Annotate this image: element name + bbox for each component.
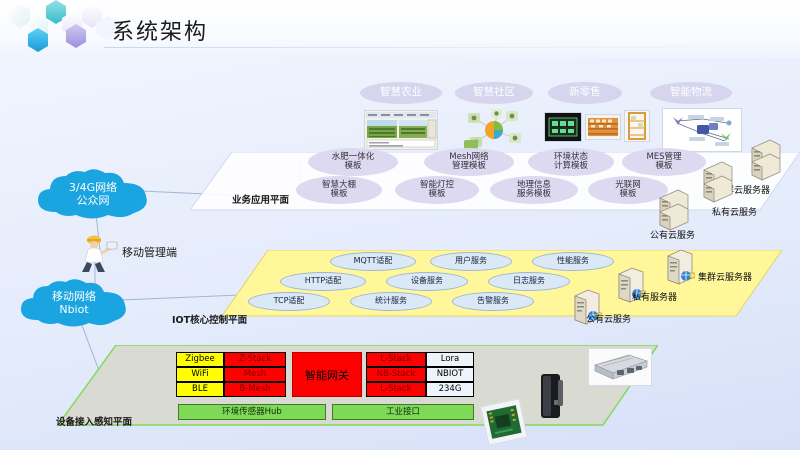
cloud-line1: 3/4G网络 xyxy=(69,181,117,194)
retail-shelf-thumbnail-2 xyxy=(585,114,621,140)
greenhouse-monitor-thumbnail xyxy=(364,110,438,150)
device-rnet-0[interactable]: Lora xyxy=(426,352,474,367)
business-module-1[interactable]: Mesh网络 管理模板 xyxy=(424,148,514,176)
iot-service-2[interactable]: 性能服务 xyxy=(532,252,614,271)
device-rnet-2[interactable]: 234G xyxy=(426,382,474,397)
server-rack-icon-1[interactable] xyxy=(700,160,734,204)
module-line2: 模板 xyxy=(344,161,361,171)
device-rstack-0[interactable]: L-Stack xyxy=(366,352,426,367)
sensor-hub-bar[interactable]: 环境传感器Hub xyxy=(178,404,326,420)
page-title: 系统架构 xyxy=(112,14,208,46)
business-module-6[interactable]: 地理信息 服务模板 xyxy=(490,176,578,204)
iot-service-3[interactable]: HTTP适配 xyxy=(280,272,366,291)
logistics-diagram-thumbnail xyxy=(662,108,742,152)
server-rack-icon-2[interactable] xyxy=(656,188,690,232)
device-stack-2[interactable]: B-Mesh xyxy=(224,382,286,397)
cloud-line2: 公众网 xyxy=(77,194,110,207)
module-line2: 服务模板 xyxy=(517,189,551,199)
retail-rack-thumbnail xyxy=(624,110,650,142)
module-line2: 模板 xyxy=(428,189,445,199)
iot-service-4[interactable]: 设备服务 xyxy=(386,272,468,291)
business-module-2[interactable]: 环境状态 计算模板 xyxy=(528,148,614,176)
cloud-line2: Nbiot xyxy=(59,303,88,316)
worker-engineer-icon xyxy=(70,232,122,274)
device-proto-0[interactable]: Zigbee xyxy=(176,352,224,367)
business-module-0[interactable]: 水肥一体化 模板 xyxy=(308,148,398,176)
business-module-3[interactable]: MES管理 模板 xyxy=(622,148,706,176)
mobile-admin-label: 移动管理端 xyxy=(122,244,177,260)
module-line2: 计算模板 xyxy=(554,161,588,171)
business-module-5[interactable]: 智能灯控 模板 xyxy=(395,176,479,204)
device-stack-1[interactable]: Mesh xyxy=(224,367,286,382)
scenario-ellipse-1[interactable]: 智慧社区 xyxy=(455,82,533,104)
scenario-ellipse-0[interactable]: 智慧农业 xyxy=(360,82,442,104)
iot-core-plane-label: IOT核心控制平面 xyxy=(172,312,247,326)
industrial-interface-bar[interactable]: 工业接口 xyxy=(332,404,474,420)
iot-service-6[interactable]: TCP适配 xyxy=(248,292,330,311)
scenario-ellipse-3[interactable]: 智能物流 xyxy=(650,82,732,104)
silver-gateway-photo xyxy=(588,348,652,386)
iot-service-5[interactable]: 日志服务 xyxy=(488,272,570,291)
server-rack-label-1: 私有云服务 xyxy=(712,205,757,218)
business-module-4[interactable]: 智慧大棚 模板 xyxy=(296,176,382,204)
title-divider xyxy=(104,47,800,48)
device-stack-0[interactable]: Z-Stack xyxy=(224,352,286,367)
module-line2: 模板 xyxy=(619,189,636,199)
tower-server-globe-icon-0[interactable] xyxy=(665,248,695,286)
module-line2: 模板 xyxy=(655,161,672,171)
black-terminal-photo xyxy=(538,372,566,420)
business-plane-label: 业务应用平面 xyxy=(232,192,289,206)
device-proto-1[interactable]: WiFi xyxy=(176,367,224,382)
device-rstack-1[interactable]: NB-Stack xyxy=(366,367,426,382)
pcb-module-photo xyxy=(480,398,527,445)
module-line2: 管理模板 xyxy=(452,161,486,171)
slide-canvas: 系统架构 智慧农业 智慧社区 新零售 智能物流 xyxy=(0,0,800,450)
tower-server-label-1: 私有服务器 xyxy=(632,290,677,303)
tower-server-label-2: 公有云服务 xyxy=(586,312,631,325)
iot-service-7[interactable]: 统计服务 xyxy=(350,292,432,311)
server-rack-icon-0[interactable] xyxy=(748,138,782,182)
module-line2: 模板 xyxy=(330,189,347,199)
device-rstack-2[interactable]: L-Stack xyxy=(366,382,426,397)
tower-server-label-0: 集群云服务器 xyxy=(698,270,752,283)
retail-shelf-thumbnail xyxy=(544,112,582,142)
iot-service-0[interactable]: MQTT适配 xyxy=(330,252,416,271)
iot-service-1[interactable]: 用户服务 xyxy=(430,252,512,271)
device-rnet-1[interactable]: NBIOT xyxy=(426,367,474,382)
cloud-3g4g-text: 3/4G网络 公众网 xyxy=(28,182,158,207)
smart-gateway-block[interactable]: 智能网关 xyxy=(292,352,362,397)
server-rack-label-2: 公有云服务 xyxy=(650,228,695,241)
device-plane-label: 设备接入感知平面 xyxy=(56,414,132,428)
iot-service-8[interactable]: 告警服务 xyxy=(452,292,534,311)
community-network-thumbnail xyxy=(464,108,524,150)
cloud-3g4g[interactable]: 3/4G网络 公众网 xyxy=(28,168,158,224)
cloud-nbiot-text: 移动网络 Nbiot xyxy=(12,291,136,316)
cloud-line1: 移动网络 xyxy=(52,290,96,303)
device-proto-2[interactable]: BLE xyxy=(176,382,224,397)
scenario-ellipse-2[interactable]: 新零售 xyxy=(548,82,622,104)
cloud-nbiot[interactable]: 移动网络 Nbiot xyxy=(12,278,136,332)
